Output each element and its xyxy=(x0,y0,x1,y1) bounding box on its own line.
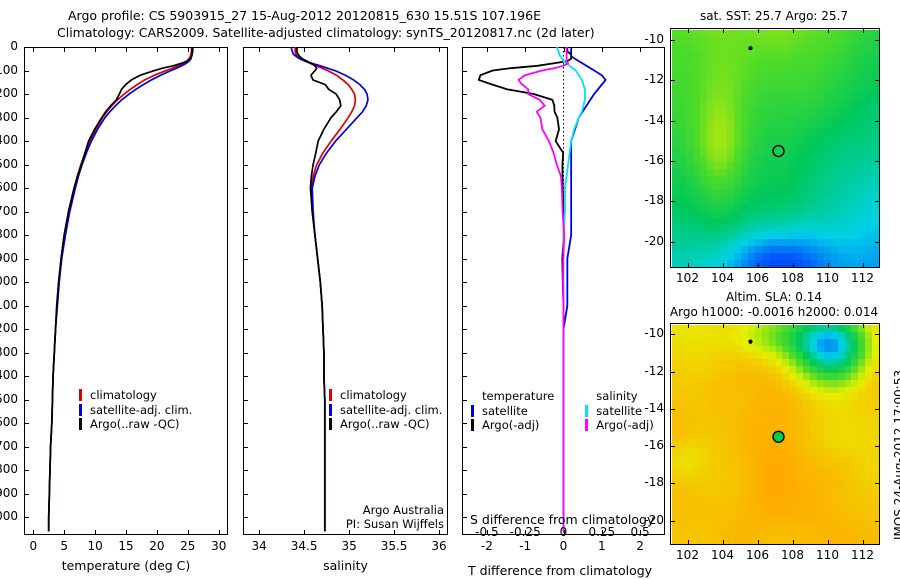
legend-color-swatch xyxy=(79,418,82,430)
sst-map-x-tick: 110 xyxy=(812,271,844,285)
tick-mark xyxy=(462,494,467,495)
tick-mark xyxy=(793,323,794,328)
tick-mark xyxy=(525,530,526,535)
tick-mark xyxy=(875,121,880,122)
tick-mark xyxy=(462,470,467,471)
salinity-profile-plot xyxy=(243,47,448,535)
sst-map-x-tick: 112 xyxy=(847,271,879,285)
tick-mark xyxy=(243,188,248,189)
legend-item: satellite xyxy=(470,404,554,419)
tick-mark xyxy=(875,40,880,41)
tick-mark xyxy=(688,323,689,328)
temperature-y-tick: 1600 xyxy=(0,415,18,429)
legend-label: climatology xyxy=(90,388,157,402)
tick-mark xyxy=(24,306,29,307)
tick-mark xyxy=(24,376,29,377)
tick-mark xyxy=(564,47,565,52)
legend-color-swatch xyxy=(471,419,474,431)
tick-mark xyxy=(525,47,526,52)
tick-mark xyxy=(157,530,158,535)
legend-item: Argo(-adj) xyxy=(584,418,653,433)
sla-map-y-tick: -18 xyxy=(630,475,664,489)
temperature-x-tick: 10 xyxy=(79,539,111,553)
tick-mark xyxy=(670,334,675,335)
tick-mark xyxy=(793,28,794,33)
tick-mark xyxy=(243,400,248,401)
sla-map-markers xyxy=(670,323,880,545)
tick-mark xyxy=(157,47,158,52)
sst-map-x-tick: 102 xyxy=(672,271,704,285)
tick-mark xyxy=(243,447,248,448)
tick-mark xyxy=(688,28,689,33)
sst-map-x-tick: 104 xyxy=(707,271,739,285)
tick-mark xyxy=(24,71,29,72)
tick-mark xyxy=(670,521,675,522)
tick-mark xyxy=(188,530,189,535)
tick-mark xyxy=(64,47,65,52)
tick-mark xyxy=(758,263,759,268)
salinity-x-tick: 34.5 xyxy=(284,539,324,553)
temperature-y-tick: 600 xyxy=(0,180,18,194)
salinity-x-axis-label: salinity xyxy=(243,558,448,573)
sst-map-y-tick: -18 xyxy=(630,193,664,207)
legend-color-swatch xyxy=(79,389,82,401)
salinity-note-line-1: Argo Australia xyxy=(248,503,444,518)
legend-color-swatch xyxy=(585,419,588,431)
tick-mark xyxy=(462,141,467,142)
tick-mark xyxy=(828,323,829,328)
tick-mark xyxy=(670,80,675,81)
tick-mark xyxy=(828,540,829,545)
tick-mark xyxy=(875,446,880,447)
tick-mark xyxy=(758,28,759,33)
tick-mark xyxy=(758,540,759,545)
sla-reference-point-marker xyxy=(748,340,752,344)
tick-mark xyxy=(243,118,248,119)
sla-map-y-tick: -20 xyxy=(630,513,664,527)
temperature-y-tick: 700 xyxy=(0,204,18,218)
temperature-profile-plot xyxy=(24,47,228,535)
difference-s-axis-label: S difference from climatology xyxy=(470,512,654,527)
legend-color-swatch xyxy=(471,405,474,417)
temperature-x-tick: 25 xyxy=(172,539,204,553)
sla-map-x-tick: 110 xyxy=(812,548,844,562)
tick-mark xyxy=(462,400,467,401)
tick-mark xyxy=(793,263,794,268)
tick-mark xyxy=(462,71,467,72)
tick-mark xyxy=(462,259,467,260)
legend-header: temperature xyxy=(470,389,554,404)
tick-mark xyxy=(487,530,488,535)
tick-mark xyxy=(462,47,467,48)
tick-mark xyxy=(487,47,488,52)
tick-mark xyxy=(243,353,248,354)
sst-map-x-tick: 108 xyxy=(777,271,809,285)
tick-mark xyxy=(688,540,689,545)
tick-mark xyxy=(126,530,127,535)
tick-mark xyxy=(875,161,880,162)
tick-mark xyxy=(670,483,675,484)
legend-color-swatch xyxy=(329,418,332,430)
temperature-y-tick: 900 xyxy=(0,251,18,265)
temperature-legend: climatologysatellite-adj. clim.Argo(..ra… xyxy=(78,388,192,432)
legend-item: climatology xyxy=(78,388,192,403)
tick-mark xyxy=(243,376,248,377)
tick-mark xyxy=(462,165,467,166)
sla-map-title-line-1: Altim. SLA: 0.14 xyxy=(668,290,880,304)
sst-map-y-tick: -16 xyxy=(630,153,664,167)
tick-mark xyxy=(24,494,29,495)
tick-mark xyxy=(462,282,467,283)
tick-mark xyxy=(24,94,29,95)
tick-mark xyxy=(259,530,260,535)
legend-label: satellite xyxy=(482,404,528,418)
tick-mark xyxy=(243,282,248,283)
tick-mark xyxy=(875,521,880,522)
tick-mark xyxy=(24,118,29,119)
legend-color-swatch xyxy=(329,389,332,401)
temperature-y-tick: 100 xyxy=(0,63,18,77)
tick-mark xyxy=(602,47,603,52)
salinity-x-tick: 35.5 xyxy=(374,539,414,553)
tick-mark xyxy=(688,263,689,268)
tick-mark xyxy=(875,334,880,335)
legend-label: Argo(..raw -QC) xyxy=(90,417,180,431)
tick-mark xyxy=(243,329,248,330)
sla-map-x-tick: 108 xyxy=(777,548,809,562)
tick-mark xyxy=(462,212,467,213)
temperature-x-tick: 5 xyxy=(48,539,80,553)
tick-mark xyxy=(462,306,467,307)
tick-mark xyxy=(602,530,603,535)
tick-mark xyxy=(462,353,467,354)
tick-mark xyxy=(24,47,29,48)
tick-mark xyxy=(462,188,467,189)
legend-item: Argo(-adj) xyxy=(470,418,554,433)
tick-mark xyxy=(875,201,880,202)
tick-mark xyxy=(670,201,675,202)
difference-t-tick: 0 xyxy=(548,539,580,553)
temperature-x-tick: 0 xyxy=(17,539,49,553)
tick-mark xyxy=(24,470,29,471)
tick-mark xyxy=(462,376,467,377)
tick-mark xyxy=(462,118,467,119)
temperature-x-tick: 20 xyxy=(141,539,173,553)
tick-mark xyxy=(24,282,29,283)
legend-label: satellite-adj. clim. xyxy=(340,403,442,417)
tick-mark xyxy=(24,259,29,260)
tick-mark xyxy=(24,212,29,213)
temperature-y-tick: 400 xyxy=(0,133,18,147)
tick-mark xyxy=(863,263,864,268)
temperature-x-axis-label: temperature (deg C) xyxy=(24,558,228,573)
header-line-2: Climatology: CARS2009. Satellite-adjuste… xyxy=(57,25,595,40)
tick-mark xyxy=(243,306,248,307)
tick-mark xyxy=(243,517,248,518)
tick-mark xyxy=(243,212,248,213)
tick-mark xyxy=(243,94,248,95)
tick-mark xyxy=(243,165,248,166)
sla-map-y-tick: -12 xyxy=(630,364,664,378)
temperature-y-tick: 1900 xyxy=(0,486,18,500)
tick-mark xyxy=(670,446,675,447)
sst-map-y-tick: -20 xyxy=(630,234,664,248)
legend-item: satellite-adj. clim. xyxy=(328,403,442,418)
tick-mark xyxy=(462,235,467,236)
legend-column: temperaturesatelliteArgo(-adj) xyxy=(470,389,554,433)
legend-item: Argo(..raw -QC) xyxy=(328,417,442,432)
temperature-y-tick: 1500 xyxy=(0,392,18,406)
temperature-y-tick: 1300 xyxy=(0,345,18,359)
tick-mark xyxy=(304,530,305,535)
tick-mark xyxy=(828,28,829,33)
temperature-y-tick: 1700 xyxy=(0,439,18,453)
tick-mark xyxy=(243,494,248,495)
legend-label: Argo(..raw -QC) xyxy=(340,417,430,431)
tick-mark xyxy=(24,400,29,401)
difference-t-tick: -1 xyxy=(509,539,541,553)
temperature-y-tick: 500 xyxy=(0,157,18,171)
sla-map-y-tick: -10 xyxy=(630,326,664,340)
tick-mark xyxy=(24,165,29,166)
sla-map-x-tick: 104 xyxy=(707,548,739,562)
salinity-x-tick: 34 xyxy=(239,539,279,553)
tick-mark xyxy=(349,530,350,535)
sla-map-y-tick: -14 xyxy=(630,401,664,415)
temperature-y-tick: 300 xyxy=(0,110,18,124)
tick-mark xyxy=(863,540,864,545)
difference-t-tick: 1 xyxy=(586,539,618,553)
difference-t-tick: -2 xyxy=(471,539,503,553)
sst-map-x-tick: 106 xyxy=(742,271,774,285)
tick-mark xyxy=(24,329,29,330)
tick-mark xyxy=(304,47,305,52)
tick-mark xyxy=(243,47,248,48)
tick-mark xyxy=(24,447,29,448)
temperature-y-tick: 0 xyxy=(0,39,18,53)
salinity-x-tick: 35 xyxy=(329,539,369,553)
tick-mark xyxy=(24,423,29,424)
legend-label: Argo(-adj) xyxy=(596,418,653,432)
tick-mark xyxy=(188,47,189,52)
sst-reference-point-marker xyxy=(748,46,752,50)
tick-mark xyxy=(670,409,675,410)
tick-mark xyxy=(259,47,260,52)
temperature-y-tick: 200 xyxy=(0,86,18,100)
legend-label: satellite-adj. clim. xyxy=(90,403,192,417)
tick-mark xyxy=(723,263,724,268)
tick-mark xyxy=(95,530,96,535)
sst-map-title: sat. SST: 25.7 Argo: 25.7 xyxy=(668,9,880,23)
temperature-y-tick: 800 xyxy=(0,227,18,241)
tick-mark xyxy=(24,188,29,189)
tick-mark xyxy=(462,517,467,518)
legend-label: Argo(-adj) xyxy=(482,418,539,432)
legend-color-swatch xyxy=(329,404,332,416)
difference-legend: temperaturesatelliteArgo(-adj)salinitysa… xyxy=(470,389,654,433)
tick-mark xyxy=(462,423,467,424)
tick-mark xyxy=(723,323,724,328)
tick-mark xyxy=(462,447,467,448)
tick-mark xyxy=(462,94,467,95)
tick-mark xyxy=(723,540,724,545)
tick-mark xyxy=(670,242,675,243)
difference-t-tick: 2 xyxy=(624,539,656,553)
difference-t-axis-label: T difference from climatology xyxy=(468,563,652,578)
tick-mark xyxy=(243,423,248,424)
tick-mark xyxy=(758,323,759,328)
tick-mark xyxy=(243,71,248,72)
header-line-1: Argo profile: CS 5903915_27 15-Aug-2012 … xyxy=(68,8,541,23)
tick-mark xyxy=(670,372,675,373)
tick-mark xyxy=(875,242,880,243)
temperature-y-tick: 1400 xyxy=(0,368,18,382)
tick-mark xyxy=(875,80,880,81)
imos-timestamp: IMOS 24-Aug-2012 17:00:53 xyxy=(892,370,900,540)
tick-mark xyxy=(24,141,29,142)
tick-mark xyxy=(24,353,29,354)
temperature-y-tick: 1800 xyxy=(0,462,18,476)
tick-mark xyxy=(828,263,829,268)
sst-map-markers xyxy=(670,28,880,268)
tick-mark xyxy=(33,530,34,535)
tick-mark xyxy=(349,47,350,52)
temperature-y-tick: 1100 xyxy=(0,298,18,312)
tick-mark xyxy=(564,530,565,535)
temperature-y-tick: 1200 xyxy=(0,321,18,335)
temperature-x-tick: 30 xyxy=(203,539,235,553)
sla-map-title-line-2: Argo h1000: -0.0016 h2000: 0.014 xyxy=(648,305,900,319)
sla-profile-location-marker xyxy=(773,431,784,442)
tick-mark xyxy=(243,141,248,142)
tick-mark xyxy=(33,47,34,52)
tick-mark xyxy=(640,530,641,535)
legend-color-swatch xyxy=(585,405,588,417)
legend-color-swatch xyxy=(79,404,82,416)
tick-mark xyxy=(219,47,220,52)
tick-mark xyxy=(875,483,880,484)
temperature-y-tick: 2000 xyxy=(0,509,18,523)
sst-map-y-tick: -14 xyxy=(630,113,664,127)
tick-mark xyxy=(439,530,440,535)
tick-mark xyxy=(243,259,248,260)
sla-map-x-tick: 112 xyxy=(847,548,879,562)
tick-mark xyxy=(126,47,127,52)
sla-map-x-tick: 106 xyxy=(742,548,774,562)
tick-mark xyxy=(439,47,440,52)
salinity-x-tick: 36 xyxy=(419,539,459,553)
tick-mark xyxy=(670,40,675,41)
legend-item: climatology xyxy=(328,388,442,403)
sst-profile-location-marker xyxy=(773,146,784,157)
tick-mark xyxy=(394,47,395,52)
tick-mark xyxy=(219,530,220,535)
legend-item: Argo(..raw -QC) xyxy=(78,417,192,432)
legend-item: satellite-adj. clim. xyxy=(78,403,192,418)
salinity-legend: climatologysatellite-adj. clim.Argo(..ra… xyxy=(328,388,442,432)
legend-label: climatology xyxy=(340,388,407,402)
tick-mark xyxy=(875,372,880,373)
sla-map-y-tick: -16 xyxy=(630,438,664,452)
tick-mark xyxy=(670,161,675,162)
sst-map-y-tick: -12 xyxy=(630,72,664,86)
tick-mark xyxy=(863,323,864,328)
tick-mark xyxy=(243,235,248,236)
tick-mark xyxy=(670,121,675,122)
tick-mark xyxy=(863,28,864,33)
tick-mark xyxy=(394,530,395,535)
temperature-x-tick: 15 xyxy=(110,539,142,553)
tick-mark xyxy=(24,235,29,236)
tick-mark xyxy=(64,530,65,535)
temperature-y-tick: 1000 xyxy=(0,274,18,288)
legend-columns: temperaturesatelliteArgo(-adj)salinitysa… xyxy=(470,389,654,433)
tick-mark xyxy=(95,47,96,52)
tick-mark xyxy=(462,329,467,330)
tick-mark xyxy=(723,28,724,33)
sst-map-y-tick: -10 xyxy=(630,32,664,46)
salinity-note-line-2: PI: Susan Wijffels xyxy=(248,517,444,532)
tick-mark xyxy=(875,409,880,410)
tick-mark xyxy=(24,517,29,518)
sla-map-x-tick: 102 xyxy=(672,548,704,562)
tick-mark xyxy=(793,540,794,545)
tick-mark xyxy=(640,47,641,52)
tick-mark xyxy=(243,470,248,471)
